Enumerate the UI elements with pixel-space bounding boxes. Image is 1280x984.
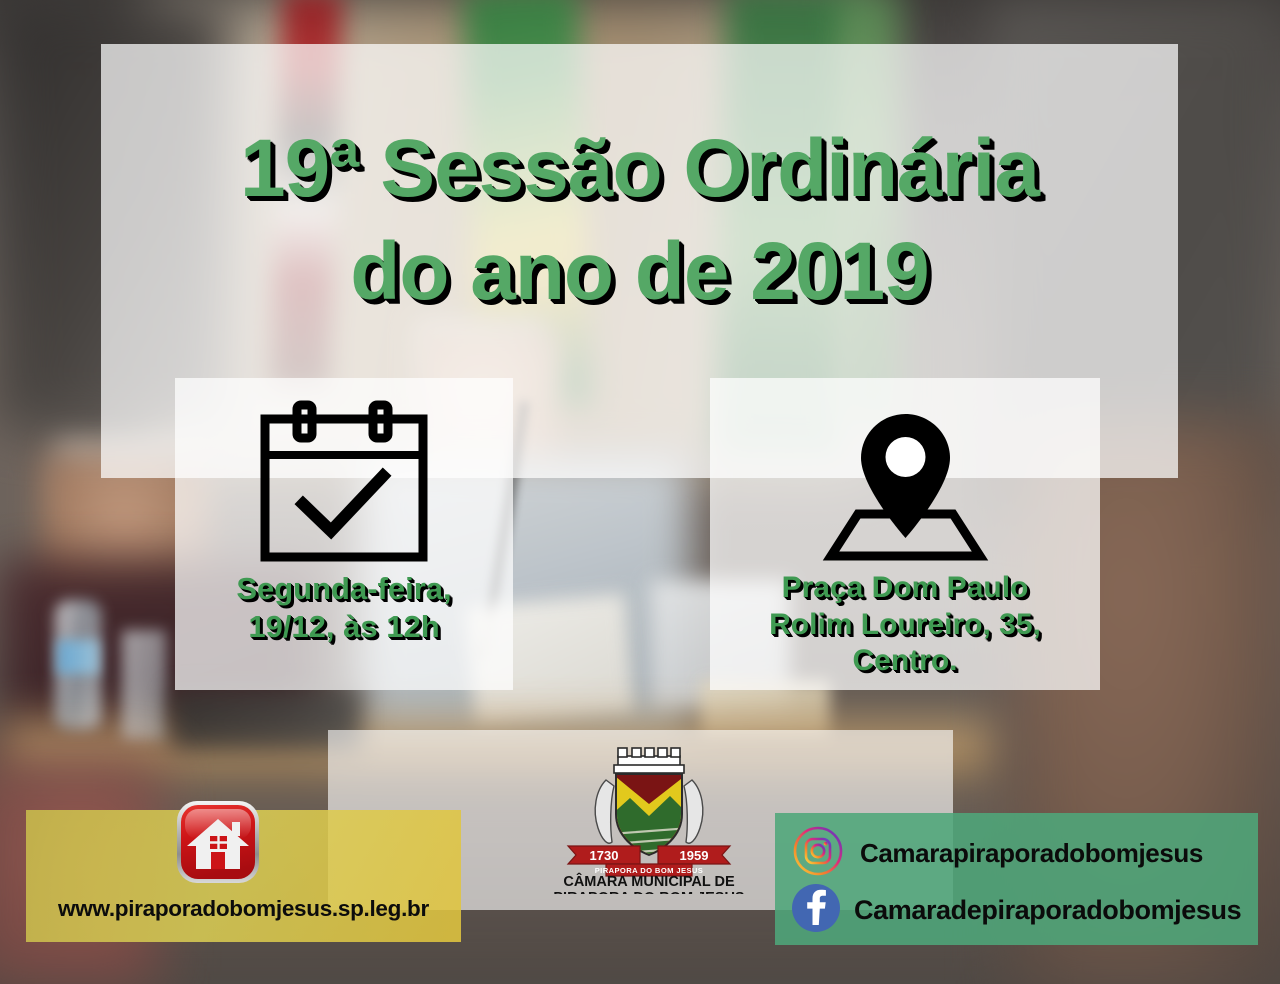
social-instagram-row[interactable]: Camarapiraporadobomjesus: [792, 825, 1203, 881]
bg-water-glass: [122, 630, 166, 740]
coat-year-right: 1959: [680, 848, 709, 863]
place-block: Praça Dom Paulo Rolim Loureiro, 35, Cent…: [710, 392, 1100, 680]
title-line-1: 19ª Sessão Ordinária: [101, 118, 1178, 221]
facebook-icon[interactable]: [790, 882, 842, 939]
place-line-1: Praça Dom Paulo: [710, 570, 1100, 607]
poster-canvas: 19ª Sessão Ordinária do ano de 2019 Segu…: [0, 0, 1280, 984]
date-line-2: 19/12, às 12h: [175, 608, 513, 646]
coat-of-arms-icon: 1730 1959 PIRAPORA DO BOM JESUS CÂMARA M…: [540, 742, 758, 894]
date-line-1: Segunda-feira,: [175, 570, 513, 608]
place-line-3: Centro.: [710, 643, 1100, 680]
title-line-2: do ano de 2019: [101, 221, 1178, 324]
bg-water-bottle-label: [57, 640, 99, 674]
brasao-line-1: CÂMARA MUNICIPAL DE: [563, 872, 735, 890]
website-url[interactable]: www.piraporadobomjesus.sp.leg.br: [26, 896, 461, 922]
coat-year-left: 1730: [590, 848, 619, 863]
map-pin-icon: [710, 392, 1100, 570]
social-facebook-row[interactable]: Camaradepiraporadobomjesus: [790, 882, 1241, 938]
calendar-check-icon: [175, 392, 513, 570]
place-line-2: Rolim Loureiro, 35,: [710, 607, 1100, 644]
brasao-line-2: PIRAPORA DO BOM JESUS: [553, 890, 745, 894]
date-block: Segunda-feira, 19/12, às 12h: [175, 392, 513, 646]
instagram-handle[interactable]: Camarapiraporadobomjesus: [860, 838, 1203, 869]
facebook-handle[interactable]: Camaradepiraporadobomjesus: [854, 895, 1241, 926]
page-title: 19ª Sessão Ordinária do ano de 2019: [101, 118, 1178, 323]
home-icon[interactable]: [176, 800, 260, 884]
instagram-icon[interactable]: [792, 825, 844, 882]
